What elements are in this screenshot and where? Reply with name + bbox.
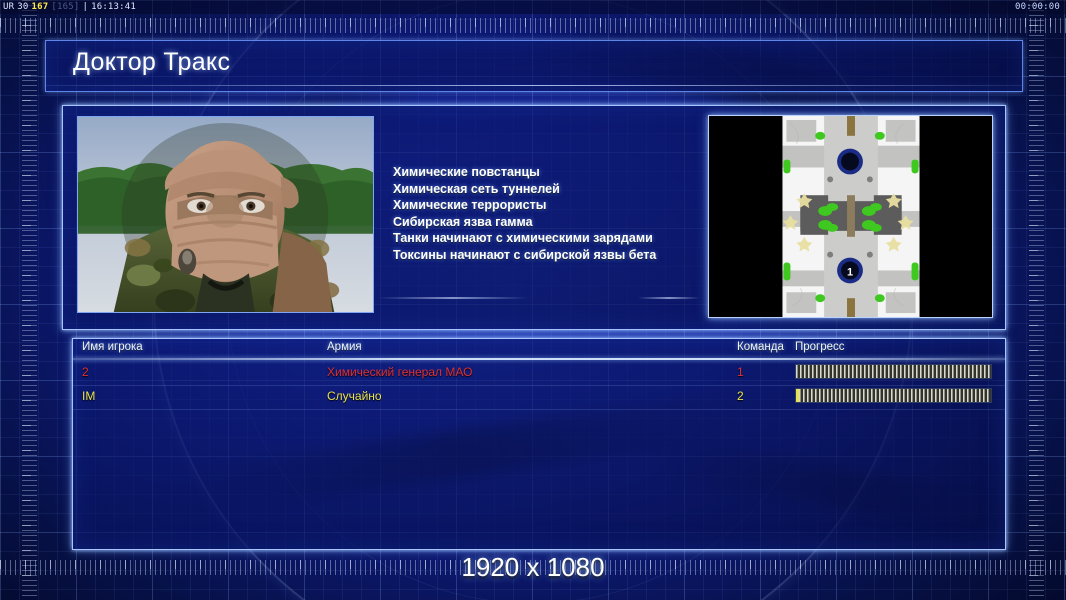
- accent-dash-right: [638, 297, 700, 299]
- column-header-progress: Прогресс: [795, 341, 845, 353]
- table-row[interactable]: 2 Химический генерал МАО 1: [73, 361, 1005, 385]
- player-team[interactable]: 2: [737, 389, 744, 403]
- description-line: Сибирская язва гамма: [393, 214, 656, 231]
- description-line: Химические террористы: [393, 197, 656, 214]
- player-army[interactable]: Химический генерал МАО: [327, 365, 472, 379]
- player-name: 2: [82, 365, 89, 379]
- map-preview[interactable]: 1: [708, 115, 993, 318]
- status-separator: |: [82, 2, 88, 12]
- player-army[interactable]: Случайно: [327, 389, 382, 403]
- status-label: UR: [3, 2, 14, 12]
- map-start-position-label: 1: [847, 266, 853, 278]
- status-value-c: [165]: [51, 2, 79, 12]
- column-header-army: Армия: [327, 341, 362, 353]
- description-line: Химическая сеть туннелей: [393, 181, 656, 198]
- ruler-strip-left: [22, 0, 37, 600]
- player-name: IM: [82, 389, 95, 403]
- game-lobby-screen: UR 30 167 [165] | 16:13:41 00:00:00 Докт…: [0, 0, 1066, 600]
- column-header-team: Команда: [737, 341, 784, 353]
- status-value-b: 167: [32, 2, 49, 12]
- resolution-label: 1920 x 1080: [0, 552, 1066, 583]
- description-line: Химические повстанцы: [393, 164, 656, 181]
- commander-portrait: [77, 116, 374, 313]
- status-bar: UR 30 167 [165] | 16:13:41 00:00:00: [0, 0, 1066, 14]
- faction-info-panel: Химические повстанцы Химическая сеть тун…: [62, 105, 1006, 330]
- progress-fill: [799, 389, 991, 402]
- header-divider: [73, 358, 1005, 360]
- match-timer: 00:00:00: [1015, 2, 1066, 12]
- player-list-panel: Имя игрока Армия Команда Прогресс 2 Хими…: [72, 338, 1006, 550]
- title-divider: [46, 85, 1022, 86]
- page-title: Доктор Тракс: [73, 48, 230, 77]
- row-divider: [73, 409, 1005, 410]
- accent-dash-left: [378, 297, 528, 299]
- table-row[interactable]: IM Случайно 2: [73, 385, 1005, 409]
- column-header-name: Имя игрока: [82, 341, 143, 353]
- player-team[interactable]: 1: [737, 365, 744, 379]
- progress-fill: [796, 365, 991, 378]
- description-line: Токсины начинают с сибирской язвы бета: [393, 247, 656, 264]
- status-value-a: 30: [17, 2, 28, 12]
- description-line: Танки начинают с химическими зарядами: [393, 230, 656, 247]
- player-list-header: Имя игрока Армия Команда Прогресс: [73, 339, 1005, 358]
- ruler-strip-top: [0, 18, 1066, 33]
- player-progress-bar: [795, 388, 992, 403]
- ruler-strip-right: [1029, 0, 1044, 600]
- player-progress-bar: [795, 364, 992, 379]
- title-panel: Доктор Тракс: [45, 40, 1023, 92]
- status-clock: 16:13:41: [91, 2, 136, 12]
- faction-description: Химические повстанцы Химическая сеть тун…: [393, 164, 656, 264]
